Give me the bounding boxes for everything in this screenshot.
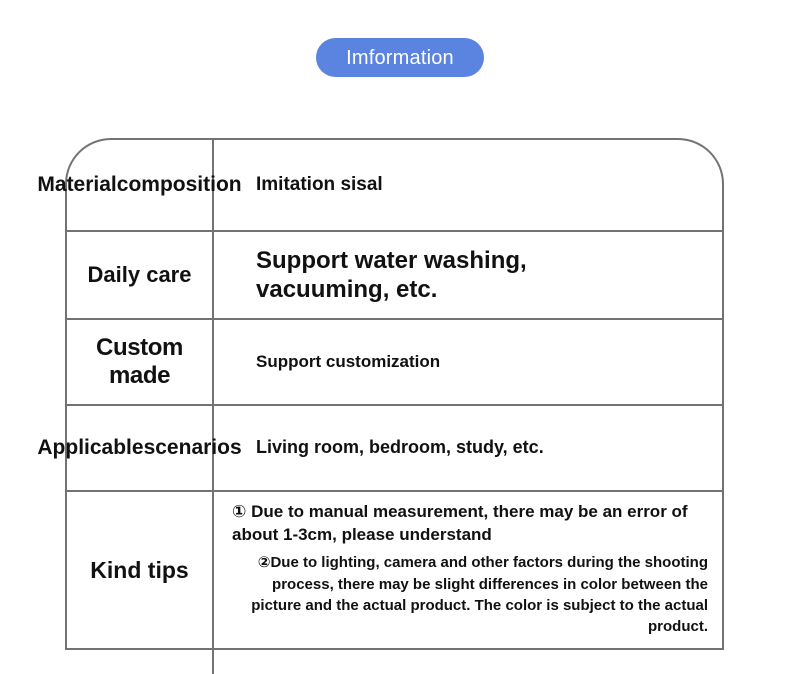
row-label-applicable-scenarios: Applicable scenarios [67, 406, 214, 490]
row-value-material-composition: Imitation sisal [214, 140, 722, 230]
kind-tip-item-1: ① Due to manual measurement, there may b… [226, 500, 710, 546]
row-value-line-1: Support water washing, [256, 247, 527, 274]
row-label-daily-care: Daily care [67, 232, 214, 318]
information-badge[interactable]: Imformation [316, 38, 484, 77]
row-value-applicable-scenarios: Living room, bedroom, study, etc. [214, 406, 722, 490]
table-row-applicable-scenarios: Applicable scenarios Living room, bedroo… [67, 406, 722, 492]
product-info-table: Material composition Imitation sisal Dai… [65, 138, 724, 650]
row-label-line-1: Applicable [37, 436, 143, 460]
table-row-daily-care: Daily care Support water washing, vacuum… [67, 232, 722, 320]
row-value-line-2: vacuuming, etc. [256, 276, 437, 303]
row-value-kind-tips: ① Due to manual measurement, there may b… [214, 492, 722, 648]
table-row-kind-tips: Kind tips ① Due to manual measurement, t… [67, 492, 722, 650]
row-value-daily-care: Support water washing, vacuuming, etc. [214, 232, 722, 318]
row-label-custom-made: Custom made [67, 320, 214, 404]
badge-container: Imformation [0, 38, 800, 77]
row-label-kind-tips: Kind tips [67, 492, 214, 648]
table-cropped-row-continuation [65, 650, 724, 674]
table-row-material-composition: Material composition Imitation sisal [67, 140, 722, 232]
kind-tip-item-2: ②Due to lighting, camera and other facto… [226, 552, 710, 637]
column-divider [212, 650, 214, 674]
row-value-custom-made: Support customization [214, 320, 722, 404]
table-row-custom-made: Custom made Support customization [67, 320, 722, 406]
row-label-line-1: Material [37, 173, 116, 197]
row-label-material-composition: Material composition [67, 140, 214, 230]
